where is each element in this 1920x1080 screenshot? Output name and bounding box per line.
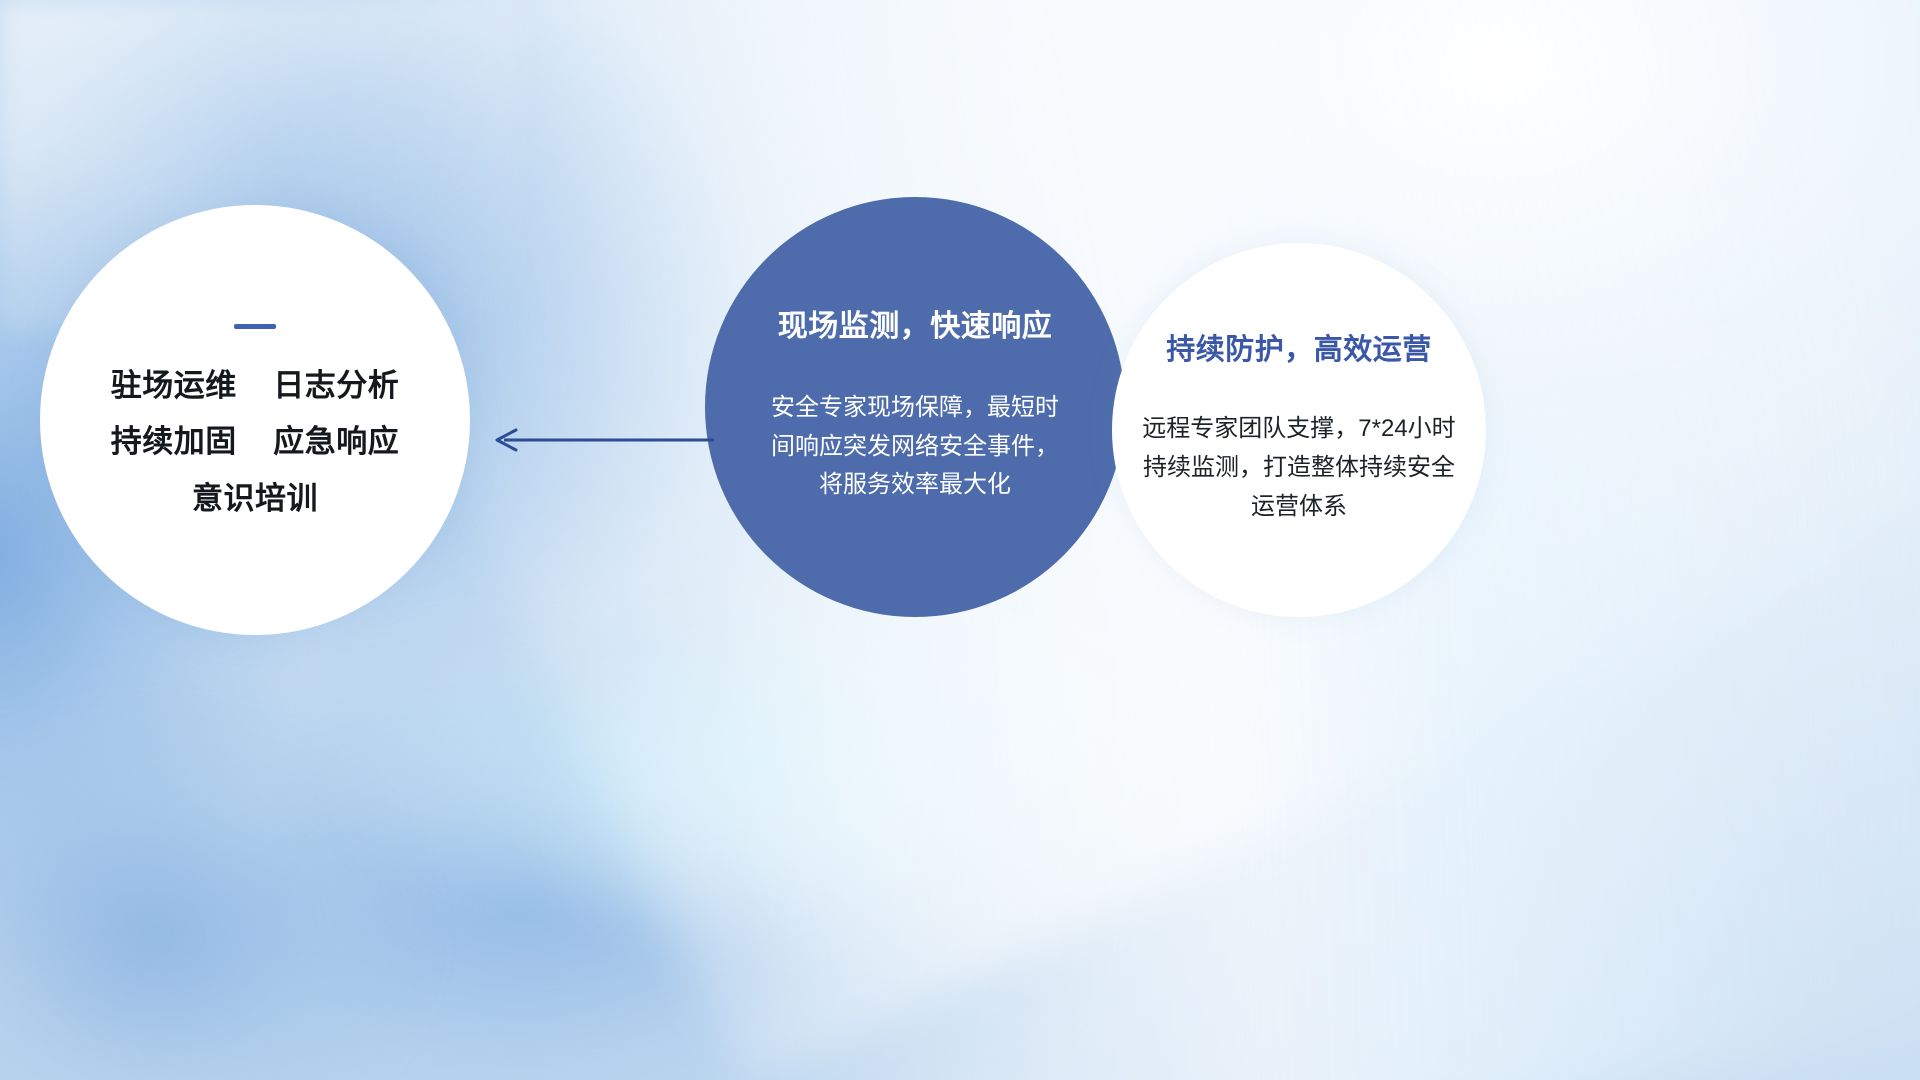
capability-keyword-row: 意识培训	[111, 482, 399, 516]
onsite-monitoring-title: 现场监测，快速响应	[778, 309, 1053, 345]
onsite-monitoring-body: 安全专家现场保障，最短时间响应突发网络安全事件，将服务效率最大化	[765, 389, 1065, 506]
continuous-protection-title: 持续防护，高效运营	[1166, 333, 1432, 368]
onsite-monitoring-circle[interactable]: 现场监测，快速响应 安全专家现场保障，最短时间响应突发网络安全事件，将服务效率最…	[705, 197, 1125, 617]
capability-keyword-row: 持续加固 应急响应	[111, 425, 399, 459]
continuous-protection-circle[interactable]: 持续防护，高效运营 远程专家团队支撑，7*24小时持续监测，打造整体持续安全运营…	[1112, 243, 1486, 617]
flow-arrow-left	[488, 418, 714, 462]
capability-keyword-row: 驻场运维 日志分析	[111, 369, 399, 403]
title-divider-dash	[234, 324, 276, 329]
capability-keyword-list: 驻场运维 日志分析 持续加固 应急响应 意识培训	[111, 369, 399, 515]
capabilities-circle[interactable]: 驻场运维 日志分析 持续加固 应急响应 意识培训	[40, 205, 470, 635]
slide-canvas: 驻场运维 日志分析 持续加固 应急响应 意识培训 现场监测，快速响应 安全专家现…	[0, 0, 1920, 1080]
continuous-protection-body: 远程专家团队支撑，7*24小时持续监测，打造整体持续安全运营体系	[1134, 410, 1464, 527]
